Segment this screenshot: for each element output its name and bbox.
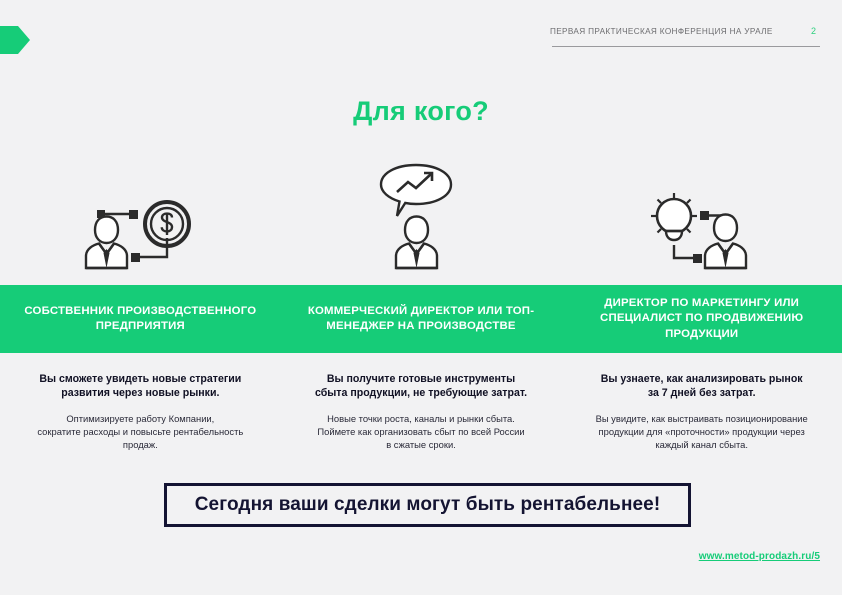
- benefit-description: Оптимизируете работу Компании, сократите…: [12, 412, 269, 451]
- cta-text: Сегодня ваши сделки могут быть рентабель…: [195, 494, 661, 516]
- businessman-with-growth-chart-bubble-icon: [375, 162, 467, 270]
- benefit-column-commercial-director: Вы получите готовые инструменты сбыта пр…: [281, 372, 562, 467]
- header-divider: [552, 46, 820, 47]
- businessman-with-dollar-coin-icon: [81, 194, 199, 270]
- conference-label: ПЕРВАЯ ПРАКТИЧЕСКАЯ КОНФЕРЕНЦИЯ НА УРАЛЕ: [550, 27, 773, 36]
- cta-box: Сегодня ваши сделки могут быть рентабель…: [164, 483, 691, 527]
- footer-website-link[interactable]: www.metod-prodazh.ru/5: [699, 551, 820, 562]
- benefit-column-marketing-director: Вы узнаете, как анализировать рынок за 7…: [561, 372, 842, 467]
- header-meta: ПЕРВАЯ ПРАКТИЧЕСКАЯ КОНФЕРЕНЦИЯ НА УРАЛЕ…: [550, 26, 820, 36]
- benefit-column-owner: Вы сможете увидеть новые стратегии разви…: [0, 372, 281, 467]
- audience-banner: СОБСТВЕННИК ПРОИЗВОДСТВЕННОГО ПРЕДПРИЯТИ…: [0, 285, 842, 353]
- page-number: 2: [811, 26, 820, 36]
- arrow-right-icon: [0, 26, 30, 54]
- banner-title-commercial-director: КОММЕРЧЕСКИЙ ДИРЕКТОР ИЛИ ТОП-МЕНЕДЖЕР Н…: [281, 304, 562, 335]
- slide-header: ПЕРВАЯ ПРАКТИЧЕСКАЯ КОНФЕРЕНЦИЯ НА УРАЛЕ…: [0, 0, 842, 62]
- icon-cell-owner: [0, 155, 281, 270]
- benefit-description: Вы увидите, как выстраивать позициониров…: [573, 412, 830, 451]
- benefit-headline: Вы получите готовые инструменты сбыта пр…: [293, 372, 550, 400]
- banner-title-owner: СОБСТВЕННИК ПРОИЗВОДСТВЕННОГО ПРЕДПРИЯТИ…: [0, 304, 281, 335]
- benefit-headline: Вы сможете увидеть новые стратегии разви…: [12, 372, 269, 400]
- lightbulb-with-businessman-icon: [643, 190, 761, 270]
- benefits-row: Вы сможете увидеть новые стратегии разви…: [0, 372, 842, 467]
- page-title: Для кого?: [0, 96, 842, 127]
- benefit-headline: Вы узнаете, как анализировать рынок за 7…: [573, 372, 830, 400]
- banner-title-marketing-director: ДИРЕКТОР ПО МАРКЕТИНГУ ИЛИ СПЕЦИАЛИСТ ПО…: [561, 296, 842, 343]
- benefit-description: Новые точки роста, каналы и рынки сбыта.…: [293, 412, 550, 451]
- icon-cell-marketing-director: [561, 155, 842, 270]
- icon-cell-commercial-director: [281, 155, 562, 270]
- icons-row: [0, 155, 842, 270]
